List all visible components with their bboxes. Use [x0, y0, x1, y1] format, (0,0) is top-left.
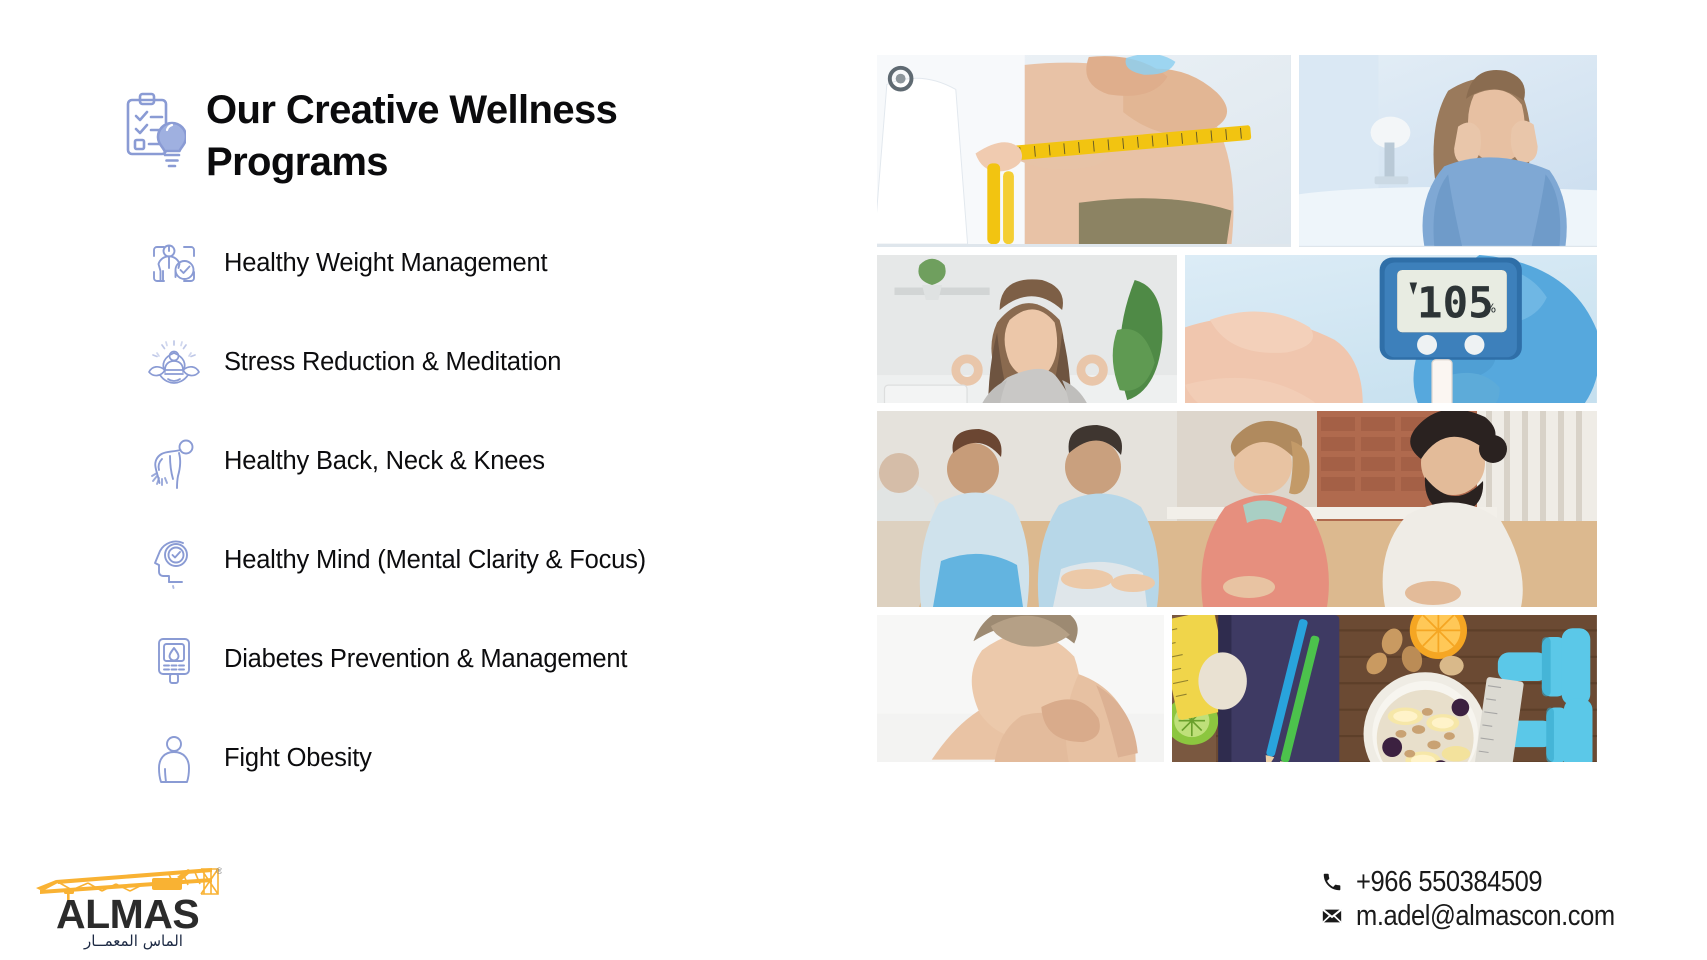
clipboard-bulb-icon	[124, 90, 186, 176]
photo-man-with-neck-pain	[877, 615, 1164, 762]
left-column: Our Creative Wellness Programs	[0, 0, 860, 960]
program-label: Healthy Mind (Mental Clarity & Focus)	[224, 546, 646, 575]
program-item-healthy-mind[interactable]: Healthy Mind (Mental Clarity & Focus)	[146, 511, 846, 610]
page-title: Our Creative Wellness Programs	[206, 84, 676, 188]
program-label: Healthy Weight Management	[224, 249, 547, 278]
svg-text:105: 105	[1417, 279, 1494, 328]
photo-doctor-measuring-waist	[877, 55, 1291, 247]
svg-text:%: %	[1485, 300, 1497, 315]
program-label: Healthy Back, Neck & Knees	[224, 447, 545, 476]
email-address: m.adel@almascon.com	[1356, 900, 1615, 933]
photo-glucose-meter-reading: 105 %	[1185, 255, 1597, 403]
program-item-diabetes-prevention[interactable]: Diabetes Prevention & Management	[146, 610, 846, 709]
photo-stressed-woman-on-bed	[1299, 55, 1597, 247]
header-block: Our Creative Wellness Programs	[124, 84, 724, 188]
contact-email-row[interactable]: m.adel@almascon.com	[1320, 899, 1650, 933]
collage-row	[877, 411, 1597, 607]
photo-woman-meditating-at-desk	[877, 255, 1177, 403]
logo-arabic-text: الماس المعمــار	[84, 932, 183, 950]
back-pain-icon	[146, 434, 202, 490]
weight-person-check-icon	[146, 236, 202, 292]
program-item-fight-obesity[interactable]: Fight Obesity	[146, 709, 846, 808]
collage-row	[877, 55, 1597, 247]
contact-phone-row[interactable]: +966 550384509	[1320, 865, 1650, 899]
logo-wordmark: ALMAS	[56, 891, 199, 938]
contact-block: +966 550384509 m.adel@almascon.com	[1320, 865, 1650, 933]
program-label: Diabetes Prevention & Management	[224, 645, 627, 674]
collage-row	[877, 615, 1597, 762]
program-label: Stress Reduction & Meditation	[224, 348, 561, 377]
phone-icon	[1320, 870, 1344, 894]
program-item-healthy-weight-management[interactable]: Healthy Weight Management	[146, 214, 846, 313]
glucose-meter-icon	[146, 632, 202, 688]
program-label: Fight Obesity	[224, 744, 372, 773]
brand-logo: ® ALMAS الماس المعمــار	[28, 866, 226, 948]
program-item-stress-reduction-meditation[interactable]: Stress Reduction & Meditation	[146, 313, 846, 412]
photo-healthy-food-and-dumbbells	[1172, 615, 1597, 762]
program-item-healthy-back-neck-knees[interactable]: Healthy Back, Neck & Knees	[146, 412, 846, 511]
envelope-icon	[1320, 904, 1344, 928]
photo-group-yoga-meditation-class	[877, 411, 1597, 607]
photo-collage: 105 %	[877, 55, 1597, 762]
lotus-meditation-icon	[146, 335, 202, 391]
program-list: Healthy Weight Management Stress Reducti…	[146, 214, 846, 808]
obese-person-icon	[146, 731, 202, 787]
registered-mark: ®	[216, 866, 222, 876]
phone-number: +966 550384509	[1356, 866, 1542, 899]
head-check-icon	[146, 533, 202, 589]
collage-row: 105 %	[877, 255, 1597, 403]
